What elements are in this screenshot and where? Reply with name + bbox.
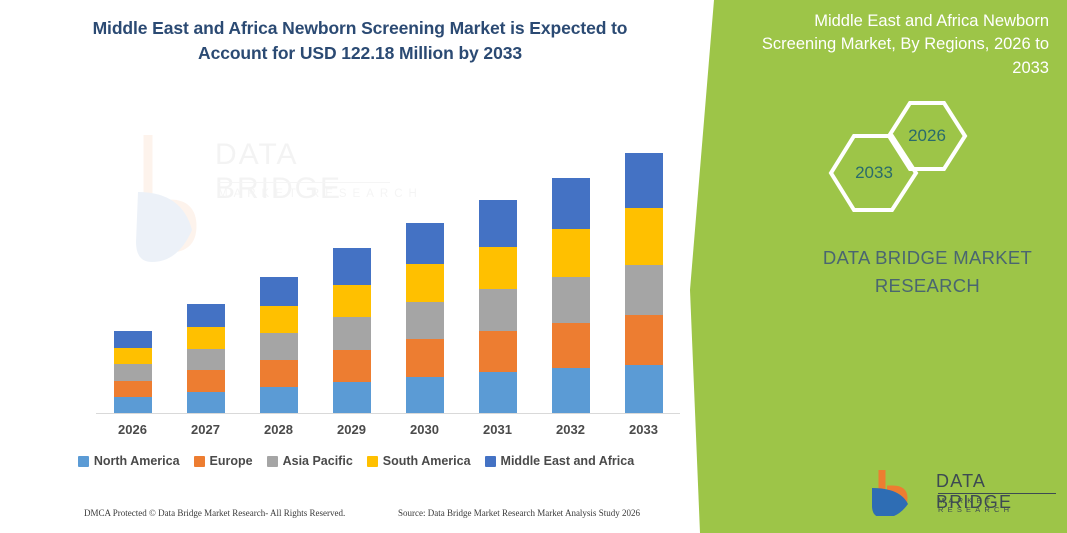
bar-column (479, 200, 517, 414)
legend-item[interactable]: Europe (194, 454, 253, 468)
infographic-root: Middle East and Africa Newborn Screening… (0, 0, 1067, 533)
bar-column (625, 153, 663, 414)
bar-segment (333, 382, 371, 414)
bar-segment (552, 323, 590, 369)
legend-label: North America (94, 454, 180, 468)
bar-segment (114, 348, 152, 365)
legend-item[interactable]: Asia Pacific (267, 454, 353, 468)
right-panel-title: Middle East and Africa Newborn Screening… (749, 10, 1049, 80)
bar-column (260, 277, 298, 414)
legend-label: Middle East and Africa (501, 454, 635, 468)
bar-column (406, 223, 444, 414)
bar-segment (333, 285, 371, 317)
x-axis-label: 2030 (388, 422, 461, 437)
chart-title: Middle East and Africa Newborn Screening… (60, 16, 660, 67)
bar-segment (187, 327, 225, 349)
legend-swatch-icon (485, 456, 496, 467)
x-axis-labels: 20262027202820292030203120322033 (96, 422, 680, 444)
legend-swatch-icon (194, 456, 205, 467)
bar-column (187, 304, 225, 414)
bar-segment (187, 304, 225, 327)
bar-column (114, 331, 152, 414)
bar-segment (406, 302, 444, 339)
bar-segment (625, 208, 663, 265)
legend-swatch-icon (267, 456, 278, 467)
chart-panel: Middle East and Africa Newborn Screening… (0, 0, 712, 533)
bar-segment (333, 317, 371, 349)
logo-tagline: MARKET RESEARCH (938, 496, 1058, 514)
bar-segment (552, 277, 590, 323)
legend-label: Asia Pacific (283, 454, 353, 468)
bar-segment (114, 331, 152, 348)
footer-source: Source: Data Bridge Market Research Mark… (398, 508, 640, 518)
bar-segment (479, 247, 517, 290)
bar-segment (479, 331, 517, 373)
chart-legend: North AmericaEuropeAsia PacificSouth Ame… (0, 454, 712, 468)
x-axis-label: 2027 (169, 422, 242, 437)
bar-segment (333, 248, 371, 285)
legend-item[interactable]: South America (367, 454, 471, 468)
hexagon-2033: 2033 (828, 133, 920, 213)
bar-segment (625, 265, 663, 315)
bar-segment (552, 368, 590, 414)
bar-column (552, 178, 590, 414)
x-axis-label: 2028 (242, 422, 315, 437)
plot-area (96, 118, 680, 414)
legend-item[interactable]: North America (78, 454, 180, 468)
x-axis-label: 2033 (607, 422, 680, 437)
logo-mark-icon (868, 468, 930, 516)
bar-segment (479, 200, 517, 247)
x-axis-label: 2032 (534, 422, 607, 437)
legend-swatch-icon (78, 456, 89, 467)
legend-item[interactable]: Middle East and Africa (485, 454, 635, 468)
hexagon-group: 2026 2033 (828, 100, 988, 205)
bar-segment (187, 392, 225, 414)
hexagon-2033-label: 2033 (828, 163, 920, 183)
bar-segment (260, 387, 298, 414)
bar-segment (625, 153, 663, 208)
company-logo: DATA BRIDGE MARKET RESEARCH (868, 466, 1058, 516)
legend-swatch-icon (367, 456, 378, 467)
bar-segment (114, 397, 152, 414)
bar-segment (625, 315, 663, 365)
bar-segment (333, 350, 371, 382)
bar-segment (260, 360, 298, 387)
x-axis-label: 2026 (96, 422, 169, 437)
bar-segment (260, 277, 298, 306)
brand-text: DATA BRIDGE MARKET RESEARCH (790, 244, 1065, 300)
x-axis-label: 2029 (315, 422, 388, 437)
bar-segment (479, 372, 517, 414)
bar-segment (187, 370, 225, 392)
bar-segment (406, 339, 444, 376)
bar-segment (114, 381, 152, 398)
bar-segment (114, 364, 152, 381)
logo-rule (938, 493, 1056, 494)
bar-segment (552, 229, 590, 277)
bar-segment (406, 264, 444, 301)
footer-copyright: DMCA Protected © Data Bridge Market Rese… (84, 508, 345, 518)
bar-segment (625, 365, 663, 414)
bar-segment (260, 306, 298, 333)
legend-label: South America (383, 454, 471, 468)
bar-segment (552, 178, 590, 229)
x-axis-label: 2031 (461, 422, 534, 437)
bar-segment (406, 377, 444, 414)
x-axis-line (96, 413, 680, 414)
bar-segment (187, 349, 225, 371)
bar-segment (479, 289, 517, 331)
bar-column (333, 248, 371, 414)
legend-label: Europe (210, 454, 253, 468)
bar-segment (406, 223, 444, 265)
bar-segment (260, 333, 298, 360)
